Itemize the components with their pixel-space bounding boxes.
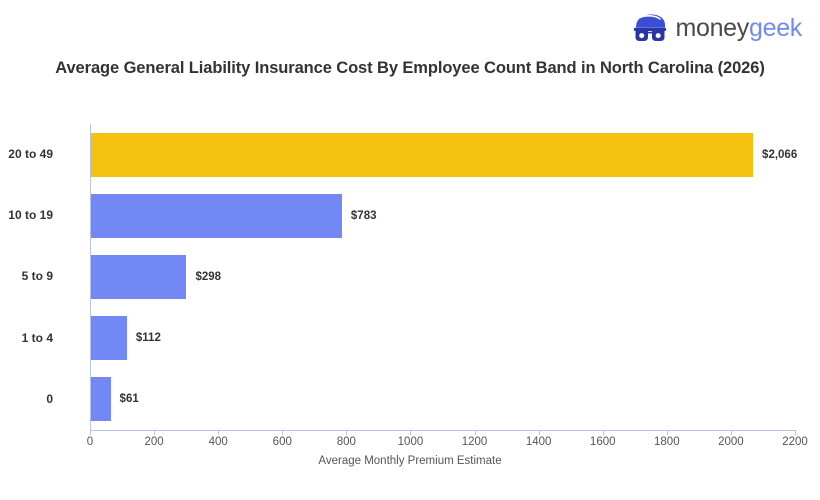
- x-axis-tick: [731, 430, 732, 435]
- moneygeek-face-glasses-icon: [633, 14, 667, 42]
- bar-value-label: $2,066: [762, 149, 797, 161]
- bar[interactable]: [91, 255, 186, 299]
- bar-value-label: $61: [120, 393, 139, 405]
- y-axis-category-label: 10 to 19: [0, 185, 53, 246]
- chart-page: moneygeek Average General Liability Insu…: [0, 0, 820, 500]
- chart-title: Average General Liability Insurance Cost…: [45, 57, 775, 80]
- bar[interactable]: [91, 377, 111, 421]
- x-axis-tick: [154, 430, 155, 435]
- x-axis-tick: [539, 430, 540, 435]
- x-axis-tick: [475, 430, 476, 435]
- y-axis-category-label: 20 to 49: [0, 124, 53, 185]
- bar[interactable]: [91, 316, 127, 360]
- x-axis-title: Average Monthly Premium Estimate: [0, 455, 820, 467]
- x-axis-tick-label: 400: [209, 436, 228, 448]
- x-axis-tick-label: 800: [337, 436, 356, 448]
- bar-value-label: $298: [195, 271, 221, 283]
- bar-row[interactable]: $61: [91, 369, 139, 430]
- x-axis-tick: [410, 430, 411, 435]
- x-axis-tick: [346, 430, 347, 435]
- x-axis-tick: [667, 430, 668, 435]
- x-axis-tick: [795, 430, 796, 435]
- y-axis-category-label: 5 to 9: [0, 246, 53, 307]
- y-axis-category-label: 0: [0, 369, 53, 430]
- x-axis-tick-label: 600: [273, 436, 292, 448]
- x-axis-tick-label: 1400: [526, 436, 552, 448]
- x-axis-tick: [282, 430, 283, 435]
- x-axis-tick-label: 1800: [654, 436, 680, 448]
- y-axis-category-label: 1 to 4: [0, 308, 53, 369]
- x-axis-tick-label: 1600: [590, 436, 616, 448]
- x-axis-tick: [603, 430, 604, 435]
- x-axis-tick-label: 1200: [462, 436, 488, 448]
- x-axis-tick: [218, 430, 219, 435]
- bar-row[interactable]: $112: [91, 308, 161, 369]
- bar[interactable]: [91, 133, 753, 177]
- brand-wordmark: moneygeek: [675, 16, 802, 41]
- brand-word-geek: geek: [749, 14, 802, 42]
- x-axis-tick: [90, 430, 91, 435]
- moneygeek-logo[interactable]: moneygeek: [633, 14, 802, 42]
- x-axis-tick-label: 200: [144, 436, 163, 448]
- x-axis-line: [90, 430, 795, 431]
- x-axis-tick-label: 2200: [782, 436, 808, 448]
- bar-value-label: $783: [351, 210, 377, 222]
- brand-word-money: money: [675, 14, 749, 42]
- bar-row[interactable]: $783: [91, 185, 377, 246]
- plot-area: $61$112$298$783$2,066 01 to 45 to 910 to…: [90, 124, 795, 430]
- bar-row[interactable]: $298: [91, 246, 221, 307]
- x-axis-tick-label: 1000: [398, 436, 424, 448]
- bar[interactable]: [91, 194, 342, 238]
- bar-value-label: $112: [136, 332, 161, 344]
- x-axis-tick-label: 0: [87, 436, 93, 448]
- bar-row[interactable]: $2,066: [91, 124, 797, 185]
- x-axis-tick-label: 2000: [718, 436, 744, 448]
